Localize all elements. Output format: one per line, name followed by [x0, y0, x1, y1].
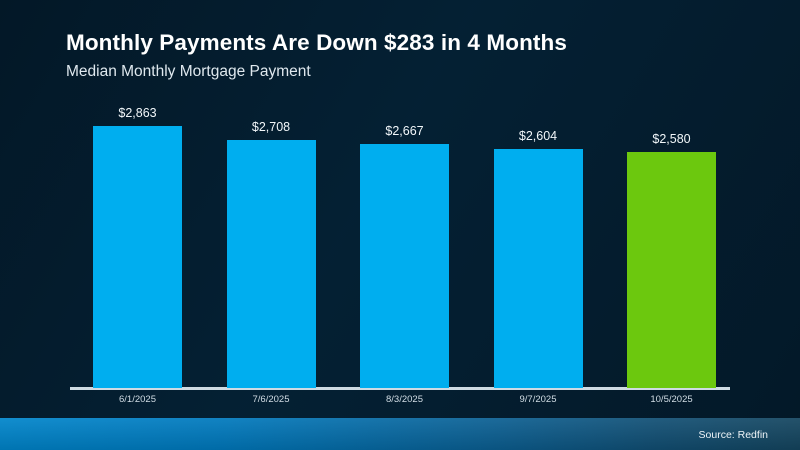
bar-1[interactable]: $2,863	[93, 126, 182, 388]
bar-value-label: $2,580	[652, 132, 690, 146]
source-attribution: Source: Redfin	[699, 429, 768, 441]
x-axis-tick-label: 6/1/2025	[119, 394, 156, 405]
bar-value-label: $2,708	[252, 120, 290, 134]
bar-value-label: $2,667	[385, 124, 423, 138]
bar-4[interactable]: $2,604	[494, 149, 583, 388]
x-axis-tick-label: 7/6/2025	[253, 394, 290, 405]
bar-value-label: $2,604	[519, 129, 557, 143]
bar-chart-plot-area: $2,8636/1/2025$2,7087/6/2025$2,6678/3/20…	[0, 0, 800, 450]
bar-5[interactable]: $2,580	[627, 152, 716, 388]
footer-band	[0, 418, 800, 450]
x-axis-tick-label: 10/5/2025	[650, 394, 692, 405]
x-axis-tick-label: 8/3/2025	[386, 394, 423, 405]
x-axis-tick-label: 9/7/2025	[520, 394, 557, 405]
bar-2[interactable]: $2,708	[227, 140, 316, 388]
bar-value-label: $2,863	[118, 106, 156, 120]
chart-canvas: Monthly Payments Are Down $283 in 4 Mont…	[0, 0, 800, 450]
bar-3[interactable]: $2,667	[360, 144, 449, 388]
